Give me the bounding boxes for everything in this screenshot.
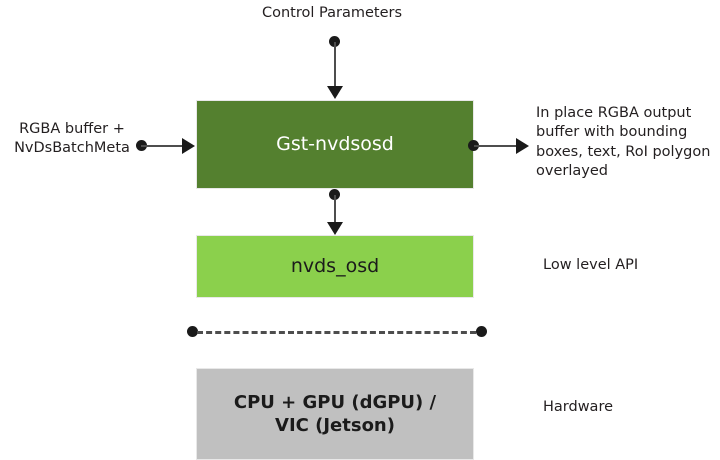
block-gst-nvdsosd: Gst-nvdsosd <box>196 100 474 189</box>
input-connector-line <box>141 145 187 147</box>
block-hardware: CPU + GPU (dGPU) / VIC (Jetson) <box>196 368 474 460</box>
control-parameters-connector-line <box>334 42 336 88</box>
input-buffer-label: RGBA buffer + NvDsBatchMeta <box>8 120 136 159</box>
control-parameters-arrowhead-icon <box>327 86 343 99</box>
block-gst-nvdsosd-label: Gst-nvdsosd <box>276 132 394 156</box>
software-hardware-boundary-line <box>197 331 476 334</box>
output-arrowhead-icon <box>516 138 529 154</box>
boundary-dot-right <box>476 326 487 337</box>
gst-to-nvds-arrowhead-icon <box>327 222 343 235</box>
block-hardware-label: CPU + GPU (dGPU) / VIC (Jetson) <box>234 391 436 437</box>
hardware-label: Hardware <box>543 398 613 417</box>
block-nvds-osd-label: nvds_osd <box>291 254 379 278</box>
output-buffer-label: In place RGBA output buffer with boundin… <box>536 104 720 181</box>
input-arrowhead-icon <box>182 138 195 154</box>
control-parameters-label: Control Parameters <box>262 4 402 23</box>
block-nvds-osd: nvds_osd <box>196 235 474 298</box>
low-level-api-label: Low level API <box>543 256 638 275</box>
diagram-canvas: Control Parameters RGBA buffer + NvDsBat… <box>0 0 720 455</box>
output-connector-line <box>474 145 521 147</box>
